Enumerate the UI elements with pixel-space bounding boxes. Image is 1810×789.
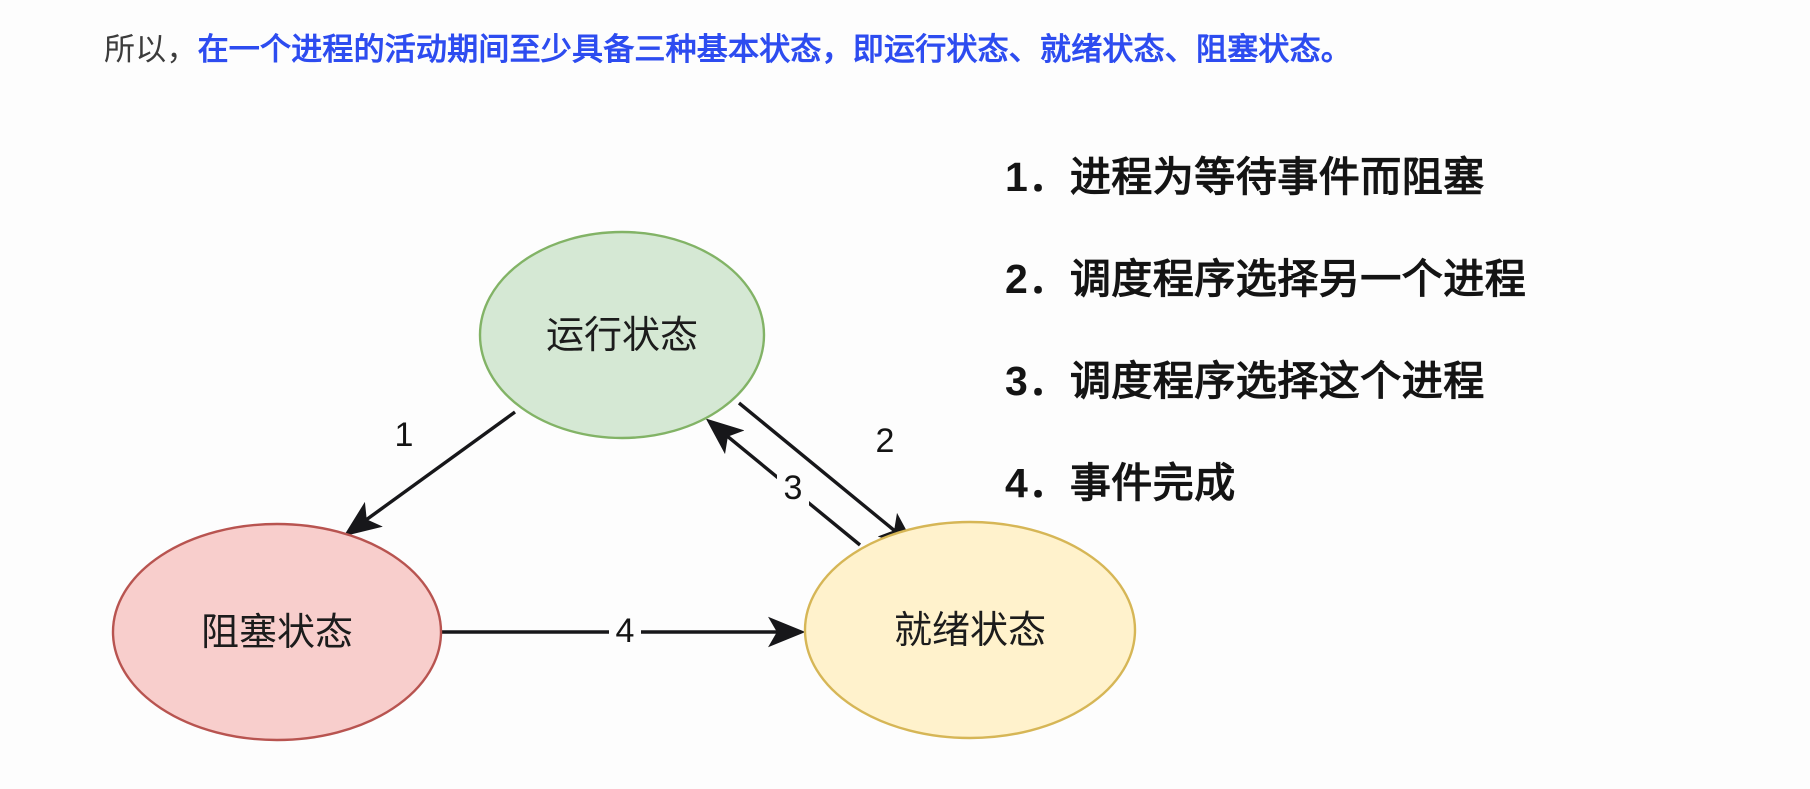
steps-list: 1． 进程为等待事件而阻塞 2． 调度程序选择另一个进程 3． 调度程序选择这个… xyxy=(1005,122,1765,530)
step-number: 2． xyxy=(1005,245,1070,305)
step-text: 事件完成 xyxy=(1070,449,1236,509)
node-running[interactable]: 运行状态 xyxy=(480,232,764,438)
edge-running-to-blocked xyxy=(348,412,515,533)
running-label: 运行状态 xyxy=(546,315,698,357)
edge-label-3: 3 xyxy=(784,469,803,507)
node-ready[interactable]: 就绪状态 xyxy=(805,522,1135,738)
list-item: 2． 调度程序选择另一个进程 xyxy=(1005,224,1765,326)
ready-label: 就绪状态 xyxy=(894,610,1046,652)
step-number: 4． xyxy=(1005,449,1070,509)
edge-label-1: 1 xyxy=(395,416,414,454)
list-item: 1． 进程为等待事件而阻塞 xyxy=(1005,122,1765,224)
page-root: 所以，在一个进程的活动期间至少具备三种基本状态，即运行状态、就绪状态、阻塞状态。… xyxy=(0,0,1810,789)
step-text: 调度程序选择这个进程 xyxy=(1070,347,1485,407)
edge-label-2: 2 xyxy=(876,422,895,460)
step-text: 进程为等待事件而阻塞 xyxy=(1070,143,1485,203)
list-item: 3． 调度程序选择这个进程 xyxy=(1005,326,1765,428)
node-blocked[interactable]: 阻塞状态 xyxy=(113,524,441,740)
step-text: 调度程序选择另一个进程 xyxy=(1070,245,1527,305)
list-item: 4． 事件完成 xyxy=(1005,428,1765,530)
step-number: 1． xyxy=(1005,143,1070,203)
step-number: 3． xyxy=(1005,347,1070,407)
edge-label-4: 4 xyxy=(616,612,635,650)
blocked-label: 阻塞状态 xyxy=(201,612,353,654)
